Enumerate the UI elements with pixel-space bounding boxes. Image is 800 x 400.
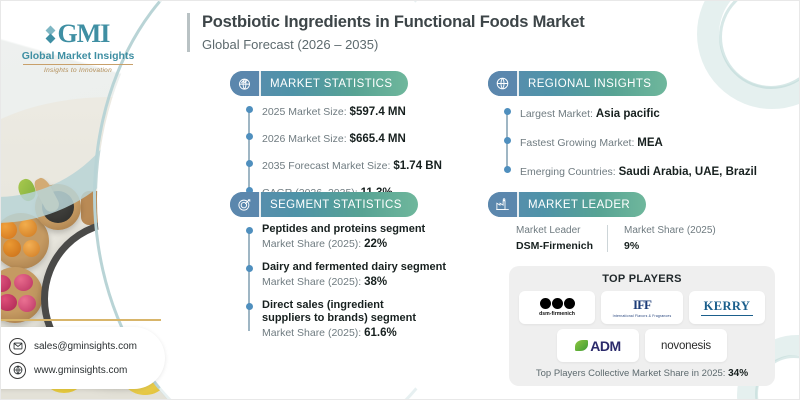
globe-icon xyxy=(9,362,26,379)
accent-bar xyxy=(1,319,161,321)
section-title: MARKET STATISTICS xyxy=(261,78,408,90)
list-item: Dairy and fermented dairy segment Market… xyxy=(244,261,474,288)
page-title: Postbiotic Ingredients in Functional Foo… xyxy=(202,13,585,32)
top-players-footer: Top Players Collective Market Share in 2… xyxy=(519,368,765,379)
section-title: MARKET LEADER xyxy=(519,199,646,211)
player-logo-iff[interactable]: IFF International Flavors & Fragrances xyxy=(601,291,683,324)
list-item: Peptides and proteins segment Market Sha… xyxy=(244,223,474,250)
segment-statistics-list: Peptides and proteins segment Market Sha… xyxy=(244,223,474,339)
list-item: 2025 Market Size: $597.4 MN xyxy=(244,102,474,120)
market-statistics-list: 2025 Market Size: $597.4 MN 2026 Market … xyxy=(244,102,474,201)
top-players-title: TOP PLAYERS xyxy=(519,273,765,285)
list-item: Fastest Growing Market: MEA xyxy=(502,133,787,151)
logo-initials: GMI xyxy=(58,19,110,49)
contact-website-row[interactable]: www.gminsights.com xyxy=(9,362,165,379)
section-header-regional-insights: REGIONAL INSIGHTS xyxy=(488,71,667,96)
logo-diamond-icon xyxy=(47,27,54,42)
market-leader-name-col: Market Leader DSM-Firmenich xyxy=(488,225,607,252)
target-segment-icon xyxy=(230,192,261,217)
top-players-card: TOP PLAYERS dsm-firmenich IFF Internatio… xyxy=(509,266,775,386)
list-item: Emerging Countries: Saudi Arabia, UAE, B… xyxy=(502,162,787,180)
market-leader-share-col: Market Share (2025) 9% xyxy=(607,225,730,252)
logo-tagline: Insights to Innovation xyxy=(13,67,143,74)
top-players-row-2: ADM novonesis xyxy=(519,329,765,362)
section-title: SEGMENT STATISTICS xyxy=(261,199,418,211)
infographic-canvas: GMI Global Market Insights Insights to I… xyxy=(0,0,800,400)
player-logo-dsm-firmenich[interactable]: dsm-firmenich xyxy=(519,291,595,324)
market-leader-block: Market Leader DSM-Firmenich Market Share… xyxy=(488,225,730,252)
header-block: Postbiotic Ingredients in Functional Foo… xyxy=(187,13,585,52)
factory-icon xyxy=(488,192,519,217)
regional-insights-list: Largest Market: Asia pacific Fastest Gro… xyxy=(502,104,787,180)
section-header-market-statistics: MARKET STATISTICS xyxy=(230,71,408,96)
gmi-logo[interactable]: GMI Global Market Insights Insights to I… xyxy=(13,19,143,74)
globe-chart-icon xyxy=(230,71,261,96)
contact-email-row[interactable]: sales@gminsights.com xyxy=(9,338,165,355)
list-item: 2026 Market Size: $665.4 MN xyxy=(244,129,474,147)
contact-block: sales@gminsights.com www.gminsights.com xyxy=(0,327,165,389)
dsm-dots-icon xyxy=(540,298,575,309)
globe-icon xyxy=(488,71,519,96)
contact-email: sales@gminsights.com xyxy=(34,341,137,352)
list-item: Largest Market: Asia pacific xyxy=(502,104,787,122)
logo-divider xyxy=(23,64,133,65)
player-logo-adm[interactable]: ADM xyxy=(557,329,639,362)
logo-company-name: Global Market Insights xyxy=(13,50,143,62)
list-item: 2035 Forecast Market Size: $1.74 BN xyxy=(244,156,474,174)
adm-leaf-icon xyxy=(575,340,588,351)
player-logo-novonesis[interactable]: novonesis xyxy=(645,329,727,362)
kerry-underline xyxy=(701,315,753,317)
section-header-segment-statistics: SEGMENT STATISTICS xyxy=(230,192,418,217)
contact-website: www.gminsights.com xyxy=(34,365,127,376)
section-title: REGIONAL INSIGHTS xyxy=(519,78,667,90)
page-subtitle: Global Forecast (2026 – 2035) xyxy=(202,37,585,52)
player-logo-kerry[interactable]: KERRY xyxy=(689,291,765,324)
section-header-market-leader: MARKET LEADER xyxy=(488,192,646,217)
top-players-row-1: dsm-firmenich IFF International Flavors … xyxy=(519,291,765,324)
envelope-icon xyxy=(9,338,26,355)
list-item: Direct sales (ingredient suppliers to br… xyxy=(244,299,474,340)
